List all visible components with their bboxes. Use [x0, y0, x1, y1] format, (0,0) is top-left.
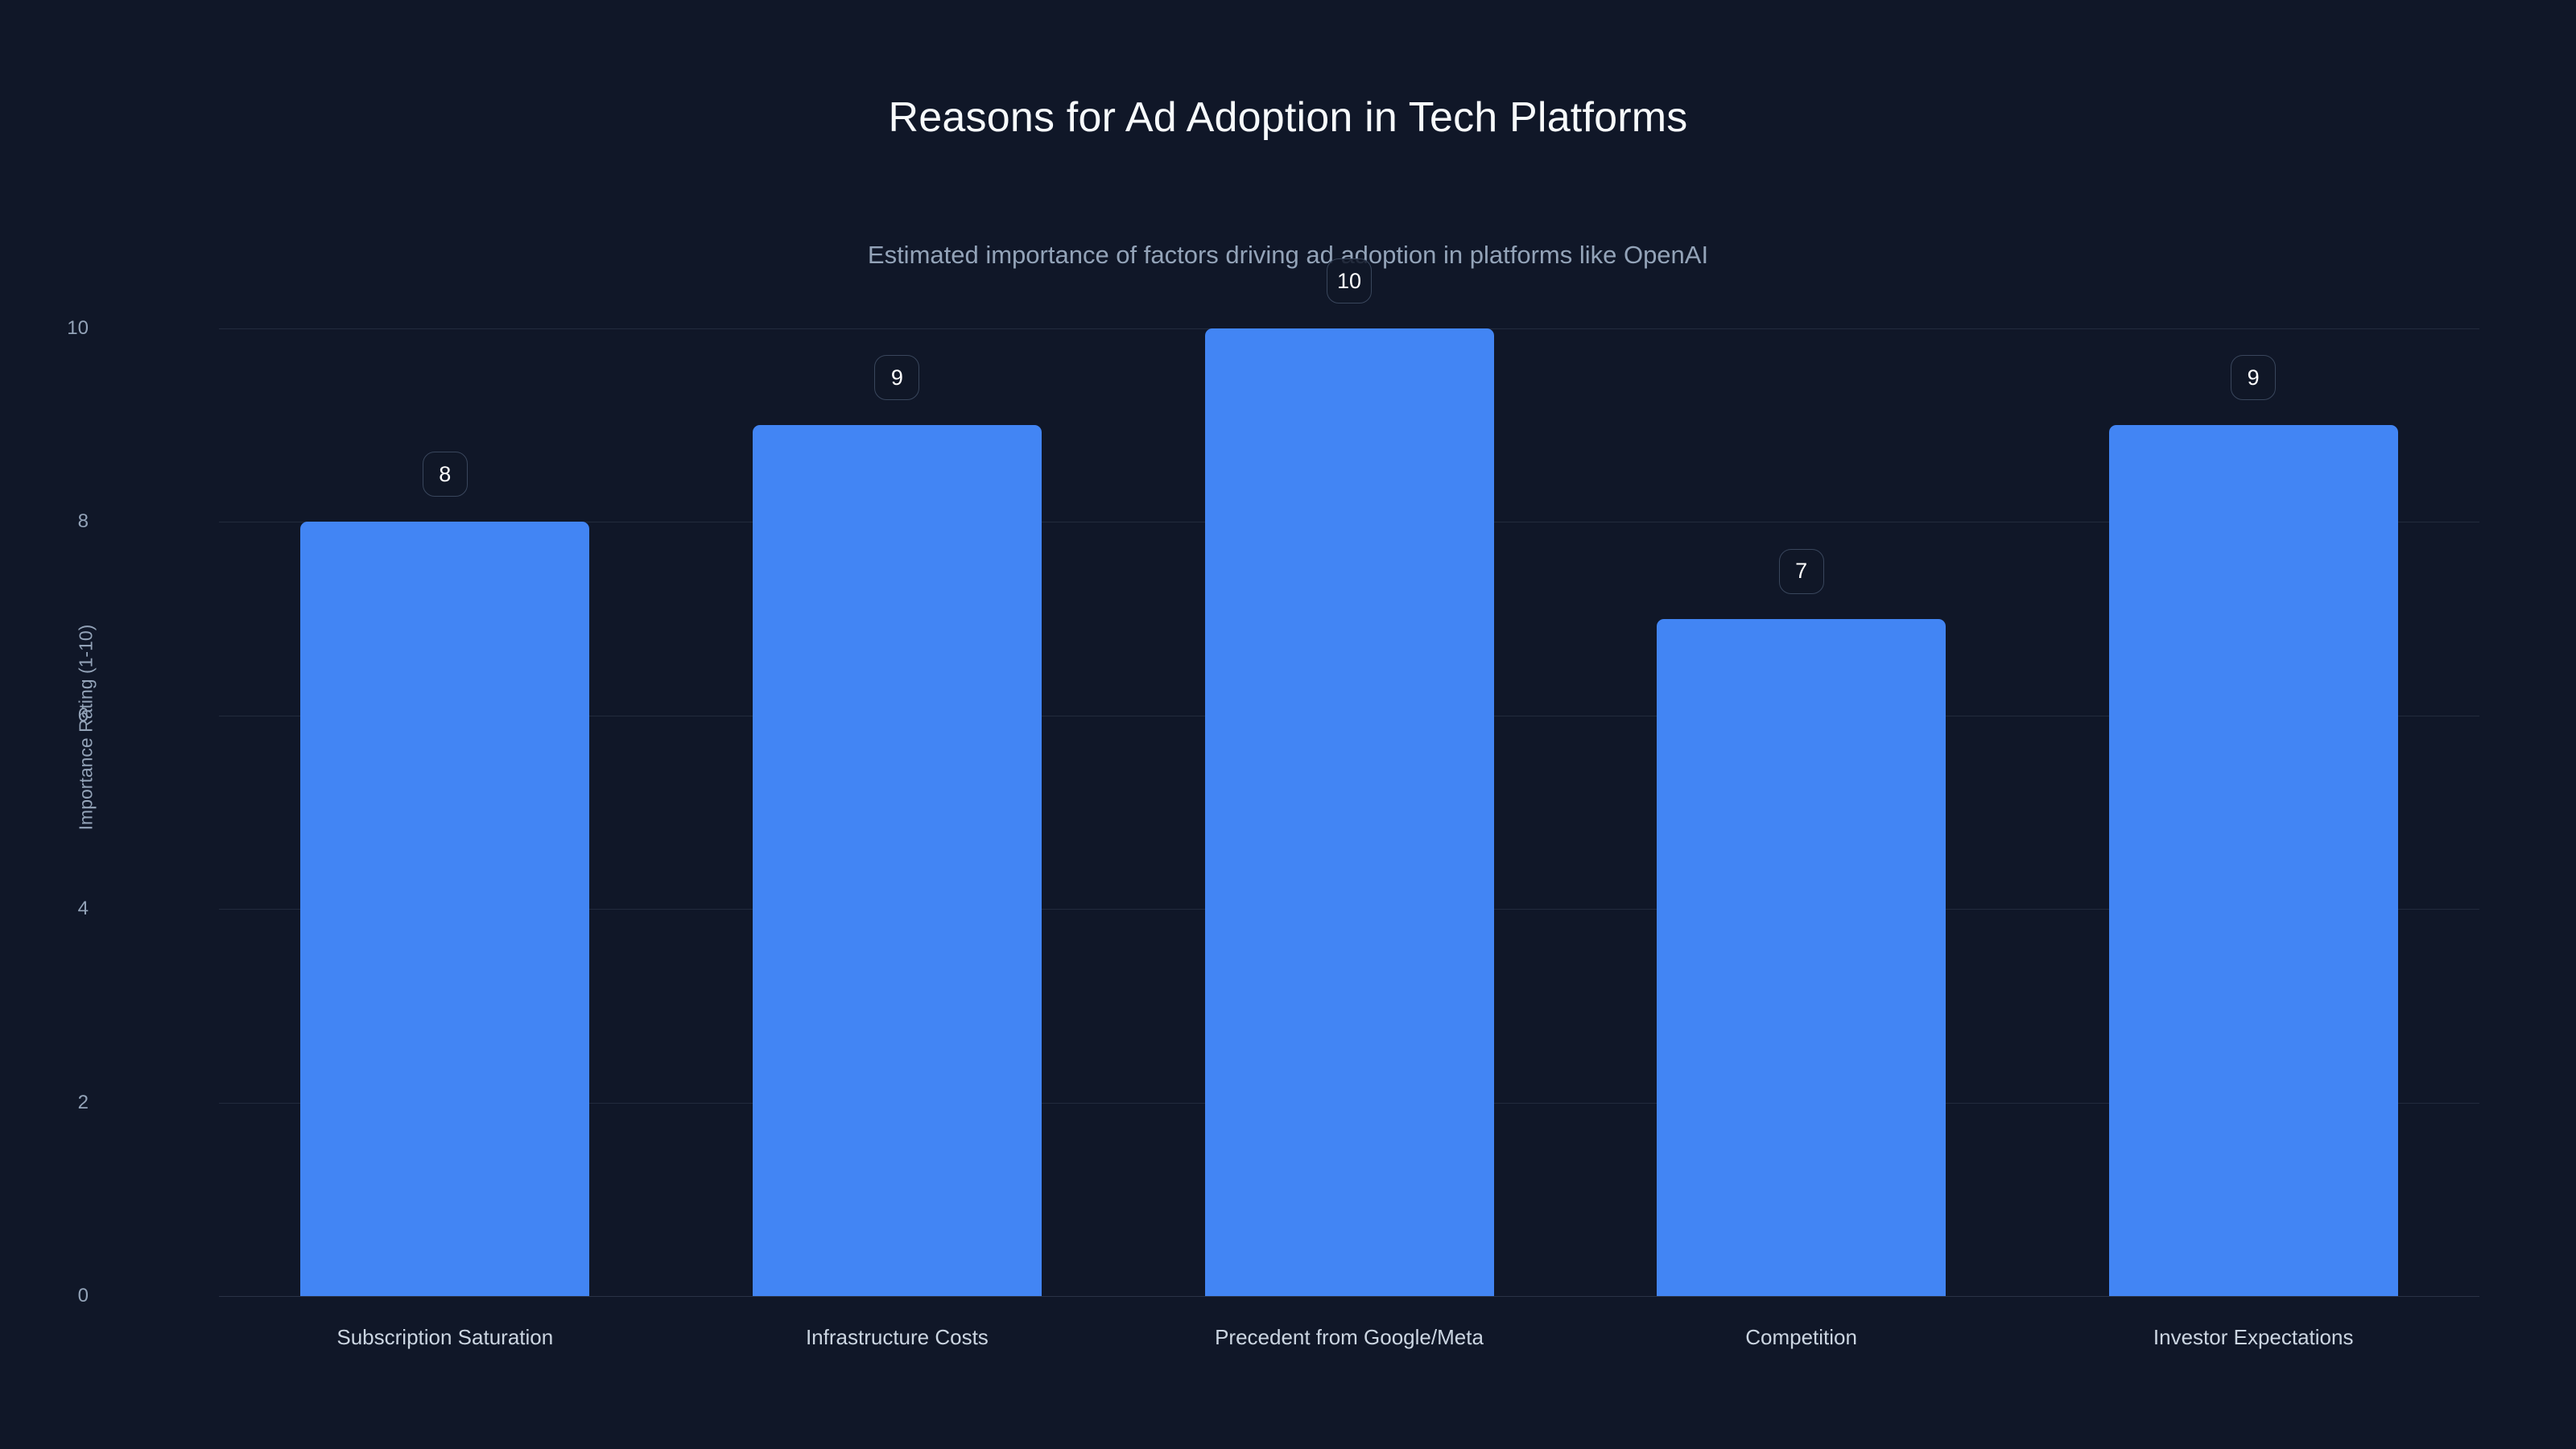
y-axis-tick-label: 4 — [78, 899, 89, 919]
bar-value-badge: 9 — [2231, 355, 2276, 400]
x-axis-tick-label: Competition — [1575, 1327, 2028, 1348]
chart-title: Reasons for Ad Adoption in Tech Platform… — [0, 95, 2576, 141]
bar-value-badge: 10 — [1327, 258, 1372, 303]
x-axis-tick-label: Precedent from Google/Meta — [1123, 1327, 1575, 1348]
bar[interactable] — [2109, 425, 2398, 1296]
x-axis-tick-label: Subscription Saturation — [219, 1327, 671, 1348]
bar[interactable] — [753, 425, 1042, 1296]
bar-value-badge: 8 — [423, 452, 468, 497]
plot-area — [219, 328, 2479, 1296]
bar[interactable] — [1657, 619, 1946, 1296]
y-axis-tick-label: 0 — [78, 1286, 89, 1306]
bar[interactable] — [300, 522, 589, 1296]
gridline — [219, 1296, 2479, 1297]
y-axis-tick-label: 6 — [78, 706, 89, 725]
bar-chart: Reasons for Ad Adoption in Tech Platform… — [0, 0, 2576, 1449]
y-axis-title: Importance Rating (1-10) — [76, 607, 97, 848]
x-axis-tick-label: Infrastructure Costs — [671, 1327, 1124, 1348]
y-axis-tick-label: 8 — [78, 512, 89, 531]
bar-value-badge: 9 — [874, 355, 919, 400]
bar[interactable] — [1205, 328, 1494, 1296]
bar-value-badge: 7 — [1779, 549, 1824, 594]
y-axis-tick-label: 10 — [67, 319, 89, 338]
x-axis-tick-label: Investor Expectations — [2027, 1327, 2479, 1348]
chart-subtitle: Estimated importance of factors driving … — [0, 242, 2576, 269]
y-axis-tick-label: 2 — [78, 1093, 89, 1113]
